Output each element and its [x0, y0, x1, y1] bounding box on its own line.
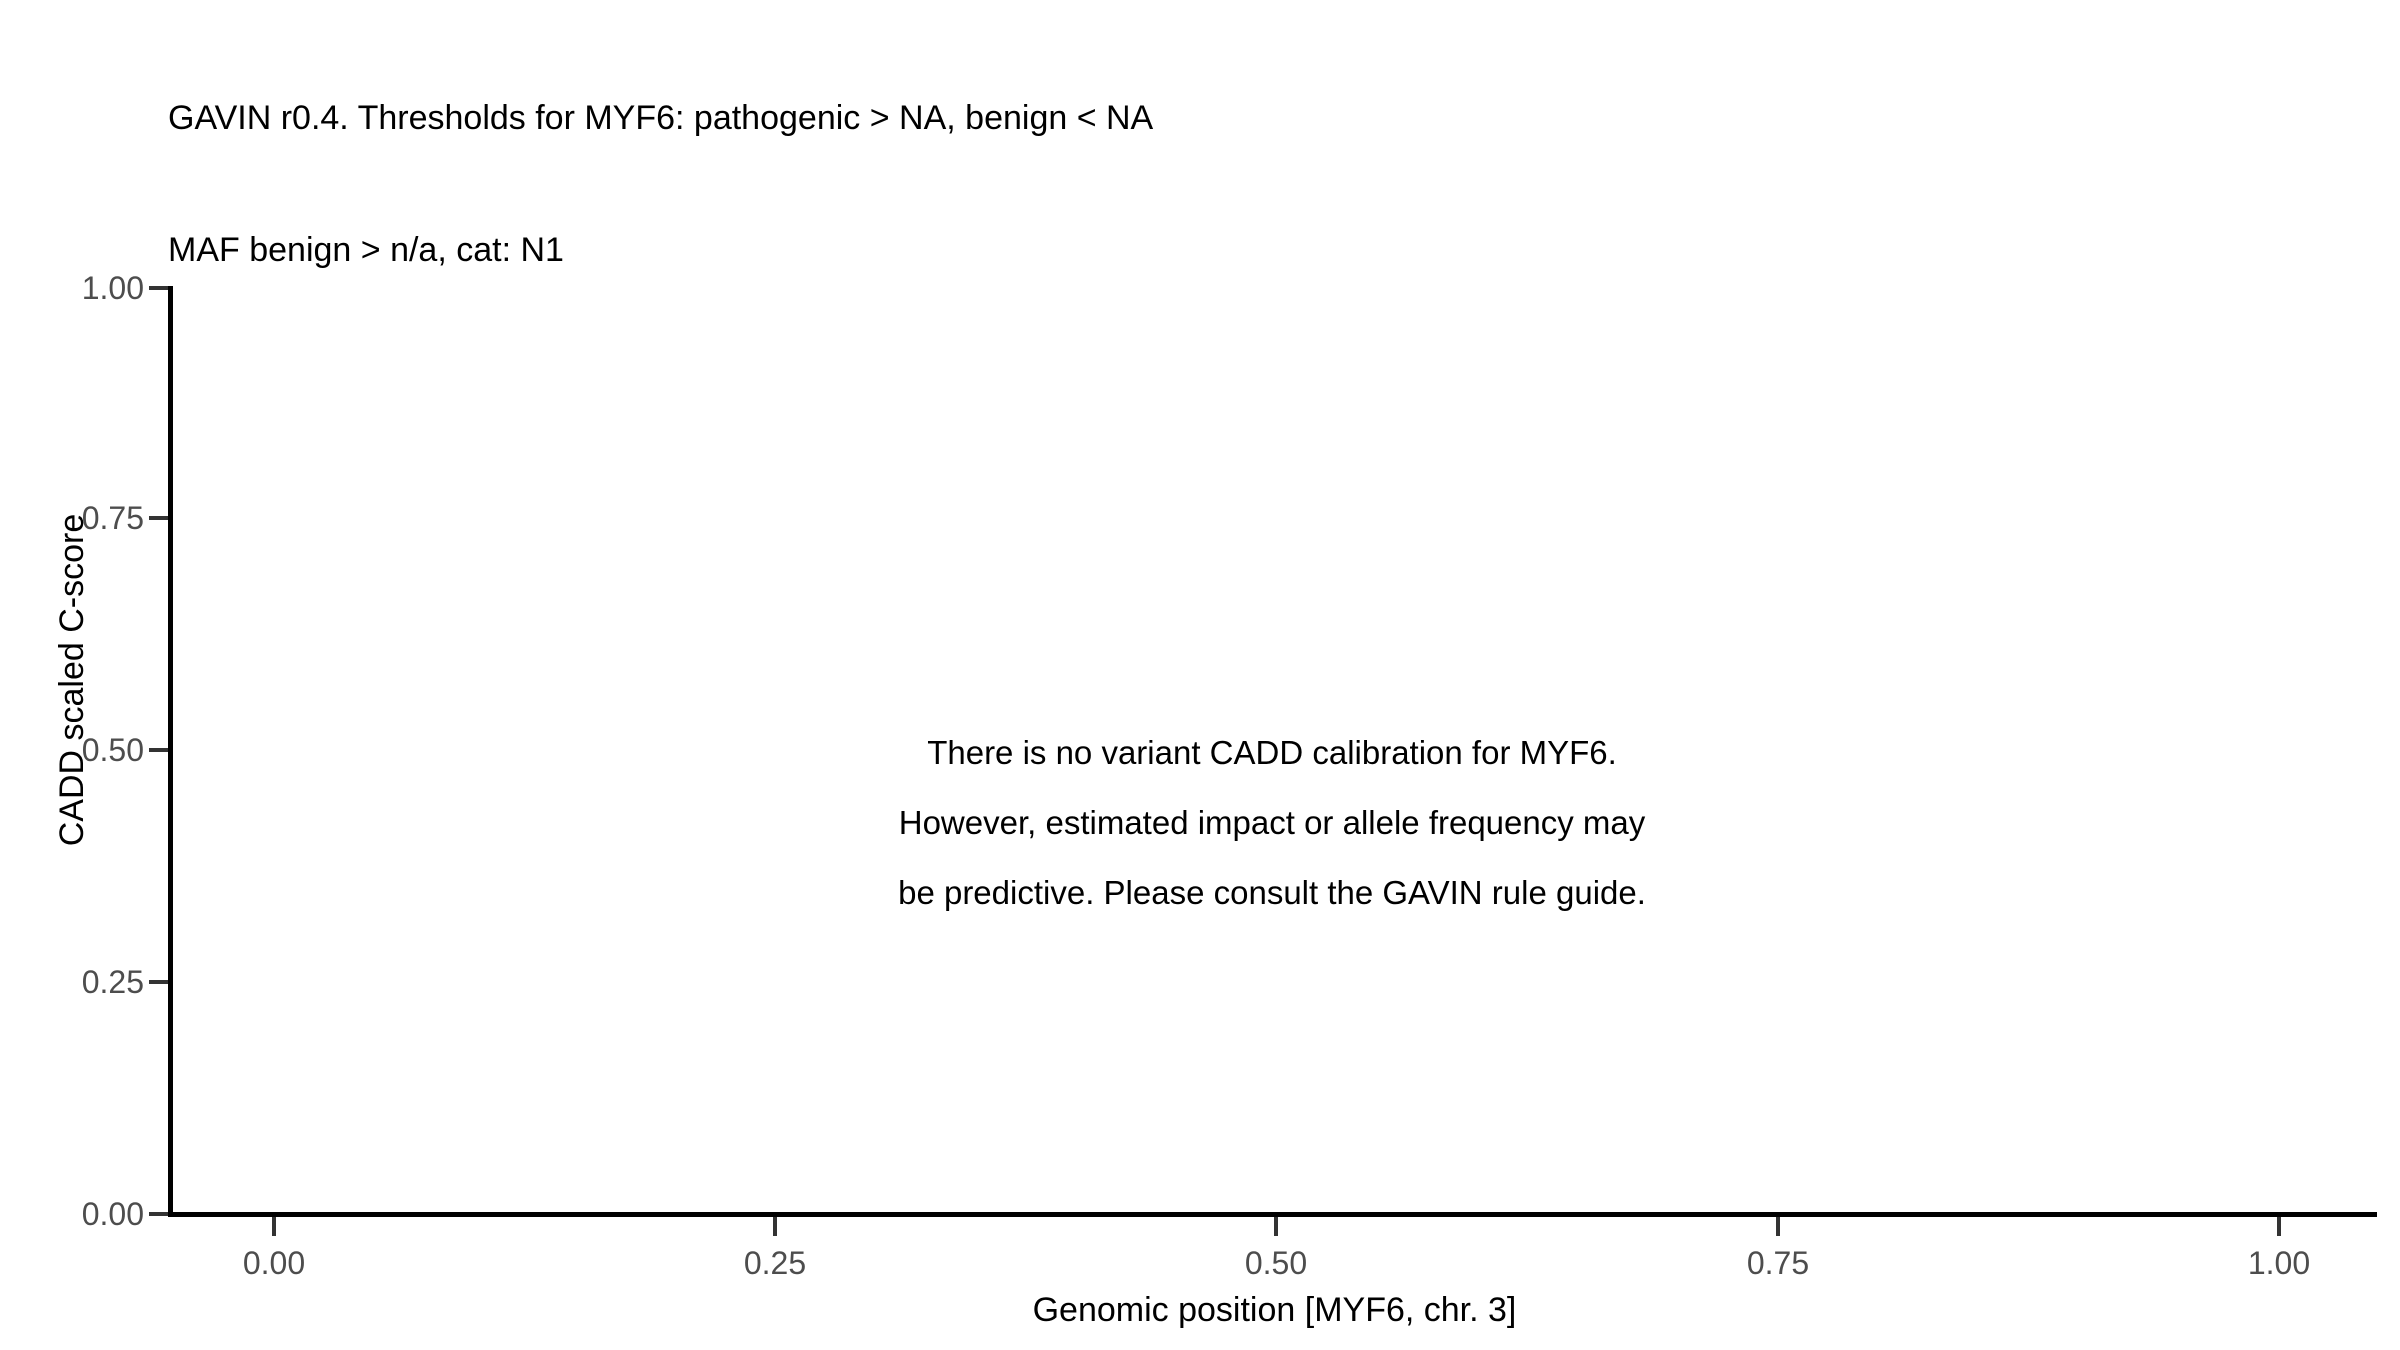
y-tick-mark-4 [149, 286, 168, 290]
y-tick-label-0: 0.00 [0, 1198, 144, 1230]
plot-panel: There is no variant CADD calibration for… [172, 286, 2377, 1214]
y-tick-label-1: 0.25 [0, 966, 144, 998]
y-tick-label-3: 0.75 [0, 502, 144, 534]
plot-title-line-1: GAVIN r0.4. Thresholds for MYF6: pathoge… [168, 96, 2348, 140]
x-tick-label-4: 1.00 [2179, 1245, 2379, 1281]
y-tick-label-2: 0.50 [0, 734, 144, 766]
x-tick-mark-4 [2277, 1217, 2281, 1236]
panel-annotation-line-1: There is no variant CADD calibration for… [592, 718, 1952, 788]
x-tick-mark-1 [773, 1217, 777, 1236]
x-tick-label-2: 0.50 [1176, 1245, 1376, 1281]
y-tick-mark-3 [149, 516, 168, 520]
panel-annotation-line-3: be predictive. Please consult the GAVIN … [592, 858, 1952, 928]
x-tick-label-1: 0.25 [675, 1245, 875, 1281]
panel-annotation-line-2: However, estimated impact or allele freq… [592, 788, 1952, 858]
y-tick-label-4: 1.00 [0, 272, 144, 304]
x-tick-label-0: 0.00 [174, 1245, 374, 1281]
x-tick-mark-3 [1776, 1217, 1780, 1236]
x-tick-mark-2 [1274, 1217, 1278, 1236]
y-tick-mark-2 [149, 748, 168, 752]
x-axis-title: Genomic position [MYF6, chr. 3] [172, 1290, 2377, 1330]
x-tick-label-3: 0.75 [1678, 1245, 1878, 1281]
x-tick-mark-0 [272, 1217, 276, 1236]
plot-title-line-2: MAF benign > n/a, cat: N1 [168, 228, 2348, 272]
y-tick-mark-0 [149, 1212, 168, 1216]
panel-annotation: There is no variant CADD calibration for… [592, 718, 1952, 928]
y-tick-mark-1 [149, 980, 168, 984]
plot-root: GAVIN r0.4. Thresholds for MYF6: pathoge… [0, 0, 2400, 1350]
x-axis-line [168, 1212, 2377, 1217]
y-axis-line [168, 286, 173, 1217]
y-axis-title: CADD scaled C-score [48, 150, 96, 1210]
